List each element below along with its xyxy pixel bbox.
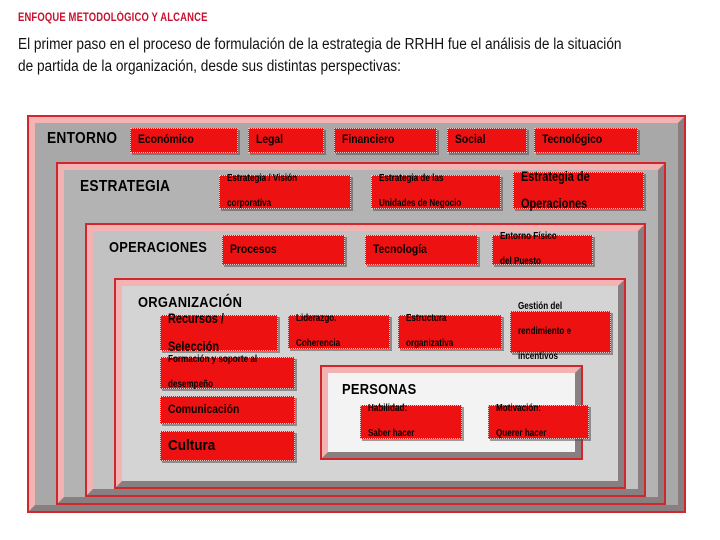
estrategia-box-unidades-negocio[interactable]: Estrategia de lasUnidades de Negocio	[371, 175, 501, 209]
entorno-box-economico-label: Económico	[138, 134, 194, 147]
slide-kicker: ENFOQUE METODOLÓGICO Y ALCANCE	[18, 12, 208, 24]
organizacion-box-cultura-label: Cultura	[168, 438, 215, 454]
organizacion-box-formacion-label: Formación y soporte aldesempeño	[168, 354, 267, 392]
personas-frame: PERSONAS Habilidad: Saber hacer Motivaci…	[321, 366, 582, 459]
organizacion-box-estructura[interactable]: Estructuraorganizativa	[398, 315, 502, 349]
operaciones-box-entorno-fisico-label: Entorno Físicodel Puesto	[500, 231, 563, 269]
operaciones-box-procesos-label: Procesos	[230, 244, 277, 257]
personas-box-motivacion[interactable]: Motivación:Querer hacer	[488, 405, 589, 439]
entorno-box-social-label: Social	[455, 134, 486, 147]
personas-box-habilidad-label: Habilidad: Saber hacer	[368, 403, 420, 441]
organizacion-box-recursos-seleccion[interactable]: Recursos /Selección	[160, 315, 278, 351]
operaciones-box-tecnologia[interactable]: Tecnología	[365, 235, 478, 265]
entorno-box-legal-label: Legal	[256, 134, 283, 147]
operaciones-box-entorno-fisico[interactable]: Entorno Físicodel Puesto	[492, 235, 593, 265]
estrategia-box-operaciones-label: Estrategia deOperaciones	[521, 171, 597, 211]
organizacion-box-estructura-label: Estructuraorganizativa	[406, 313, 459, 351]
organizacion-frame: ORGANIZACIÓN Recursos /Selección Lideraz…	[115, 279, 625, 488]
estrategia-box-operaciones[interactable]: Estrategia deOperaciones	[513, 172, 644, 209]
entorno-box-legal[interactable]: Legal	[248, 128, 324, 153]
organizacion-box-recursos-seleccion-label: Recursos /Selección	[168, 313, 230, 353]
organizacion-box-comunicacion[interactable]: Comunicación	[160, 396, 295, 424]
operaciones-frame: OPERACIONES Procesos Tecnología Entorno …	[86, 224, 645, 496]
estrategia-box-vision-corporativa[interactable]: Estrategia / Visióncorporativa	[219, 175, 351, 209]
organizacion-box-formacion[interactable]: Formación y soporte aldesempeño	[160, 357, 295, 389]
personas-box-motivacion-label: Motivación:Querer hacer	[496, 403, 552, 441]
personas-title: PERSONAS	[342, 381, 416, 398]
entorno-box-financiero-label: Financiero	[342, 134, 394, 147]
operaciones-box-tecnologia-label: Tecnología	[373, 244, 427, 257]
entorno-box-financiero[interactable]: Financiero	[334, 128, 437, 153]
entorno-box-social[interactable]: Social	[447, 128, 527, 153]
entorno-frame: ENTORNO Económico Legal Financiero Socia…	[28, 116, 685, 512]
estrategia-frame: ESTRATEGIA Estrategia / Visióncorporativ…	[57, 163, 665, 504]
operaciones-title: OPERACIONES	[109, 239, 207, 256]
personas-box-habilidad[interactable]: Habilidad: Saber hacer	[360, 405, 462, 439]
operaciones-box-procesos[interactable]: Procesos	[222, 235, 345, 265]
estrategia-box-vision-corporativa-label: Estrategia / Visióncorporativa	[227, 173, 305, 211]
organizacion-title: ORGANIZACIÓN	[138, 294, 242, 311]
entorno-box-tecnologico-label: Tecnológico	[542, 134, 602, 147]
estrategia-title: ESTRATEGIA	[80, 178, 170, 196]
organizacion-box-gestion-rendimiento[interactable]: Gestión delrendimiento eincentivos	[510, 311, 611, 353]
slide-body-text: El primer paso en el proceso de formulac…	[18, 34, 625, 78]
entorno-box-economico[interactable]: Económico	[130, 128, 238, 153]
organizacion-box-comunicacion-label: Comunicación	[168, 404, 239, 417]
entorno-box-tecnologico[interactable]: Tecnológico	[534, 128, 638, 153]
organizacion-box-cultura[interactable]: Cultura	[160, 431, 295, 461]
organizacion-box-liderazgo[interactable]: Liderazgo.Coherencia	[288, 315, 390, 349]
organizacion-box-gestion-rendimiento-label: Gestión delrendimiento eincentivos	[518, 301, 577, 364]
organizacion-box-liderazgo-label: Liderazgo.Coherencia	[296, 313, 345, 351]
estrategia-box-unidades-negocio-label: Estrategia de lasUnidades de Negocio	[379, 173, 471, 211]
entorno-title: ENTORNO	[47, 130, 117, 148]
